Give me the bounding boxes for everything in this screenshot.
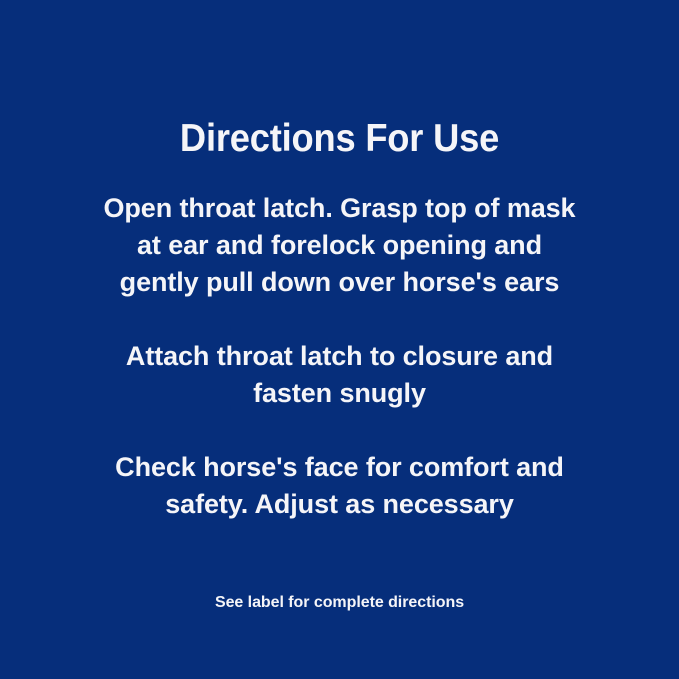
step-3-line-1: Check horse's face for comfort and	[85, 449, 595, 486]
step-1-line-1: Open throat latch. Grasp top of mask	[85, 190, 595, 227]
instruction-step-1: Open throat latch. Grasp top of mask at …	[85, 190, 595, 301]
footer-note: See label for complete directions	[0, 592, 679, 614]
step-1-line-3: gently pull down over horse's ears	[85, 264, 595, 301]
step-2-line-1: Attach throat latch to closure and	[85, 338, 595, 375]
step-1-line-2: at ear and forelock opening and	[85, 227, 595, 264]
instruction-steps-list: Open throat latch. Grasp top of mask at …	[0, 190, 679, 523]
instruction-step-2: Attach throat latch to closure and faste…	[85, 338, 595, 412]
page-title: Directions For Use	[24, 117, 655, 161]
instruction-step-3: Check horse's face for comfort and safet…	[85, 449, 595, 523]
directions-panel: Directions For Use Open throat latch. Gr…	[0, 0, 679, 679]
step-2-line-2: fasten snugly	[85, 375, 595, 412]
step-3-line-2: safety. Adjust as necessary	[85, 486, 595, 523]
